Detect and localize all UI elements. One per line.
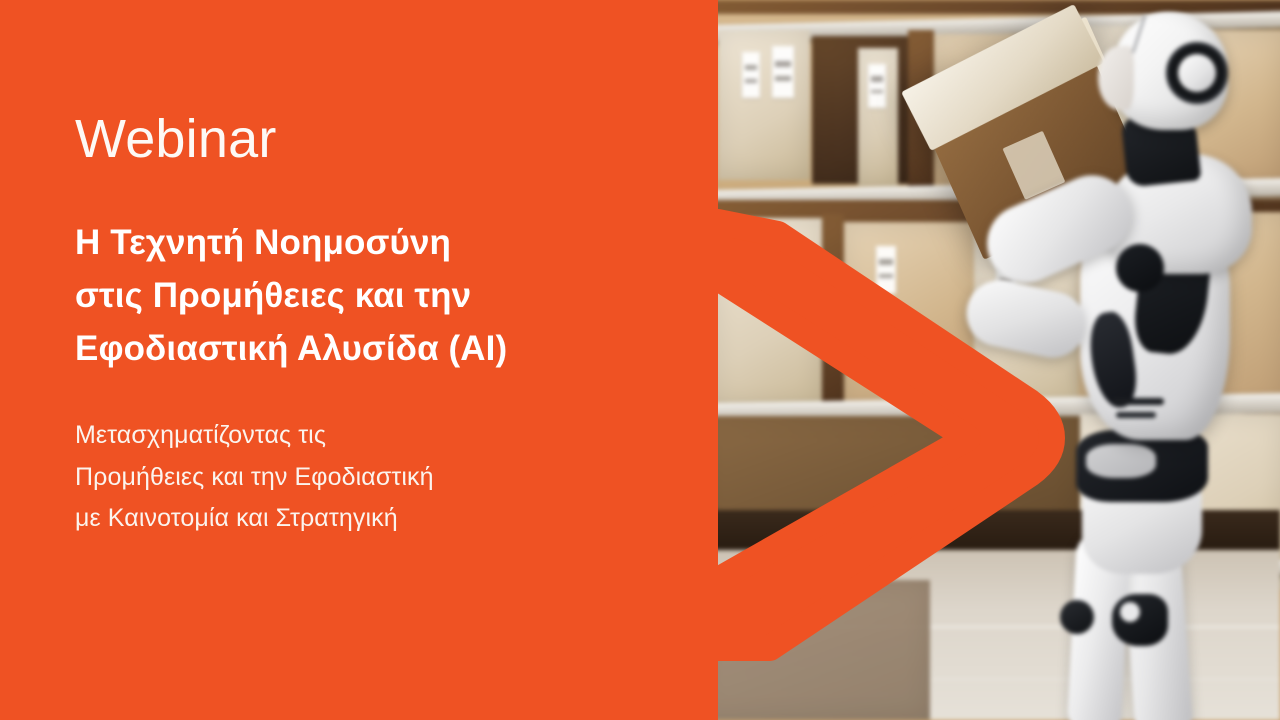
carton-label bbox=[772, 46, 794, 98]
robot-face bbox=[1098, 46, 1134, 110]
carton-label bbox=[742, 52, 760, 98]
carton-label bbox=[736, 244, 756, 294]
robot-vent-slot bbox=[1116, 412, 1156, 418]
carton bbox=[714, 218, 822, 408]
banner-copy: Webinar Η Τεχνητή Νοημοσύνη στις Προμήθε… bbox=[75, 0, 675, 720]
robot-hip-joint bbox=[1076, 430, 1208, 502]
carton bbox=[844, 222, 974, 410]
carton bbox=[718, 30, 810, 180]
foreground-pallet bbox=[700, 580, 930, 720]
robot-vent-slot bbox=[1112, 398, 1164, 405]
subhead-line-3: με Καινοτομία και Στρατηγική bbox=[75, 498, 655, 540]
carton-label bbox=[766, 252, 784, 294]
subtitle: Μετασχηματίζοντας τις Προμήθειες και την… bbox=[75, 415, 655, 540]
headline-line-3: Εφοδιαστική Αλυσίδα (ΑΙ) bbox=[75, 322, 655, 375]
humanoid-robot bbox=[1020, 0, 1280, 720]
subhead-line-2: Προμήθειες και την Εφοδιαστική bbox=[75, 457, 655, 499]
carton-label bbox=[868, 64, 886, 108]
rack-upright bbox=[822, 214, 844, 410]
headline-line-1: Η Τεχνητή Νοημοσύνη bbox=[75, 216, 655, 269]
kicker-label: Webinar bbox=[75, 112, 277, 166]
robot-ear-disc bbox=[1166, 42, 1228, 104]
robot-elbow-joint bbox=[1116, 244, 1164, 292]
robot-knee-joint bbox=[1060, 600, 1094, 634]
carton-label bbox=[876, 246, 896, 294]
headline-line-2: στις Προμήθειες και την bbox=[75, 269, 655, 322]
page-title: Η Τεχνητή Νοημοσύνη στις Προμήθειες και … bbox=[75, 216, 655, 376]
subhead-line-1: Μετασχηματίζοντας τις bbox=[75, 415, 655, 457]
robot-knee-joint bbox=[1112, 594, 1168, 646]
webinar-promo-banner: Webinar Η Τεχνητή Νοημοσύνη στις Προμήθε… bbox=[0, 0, 1280, 720]
